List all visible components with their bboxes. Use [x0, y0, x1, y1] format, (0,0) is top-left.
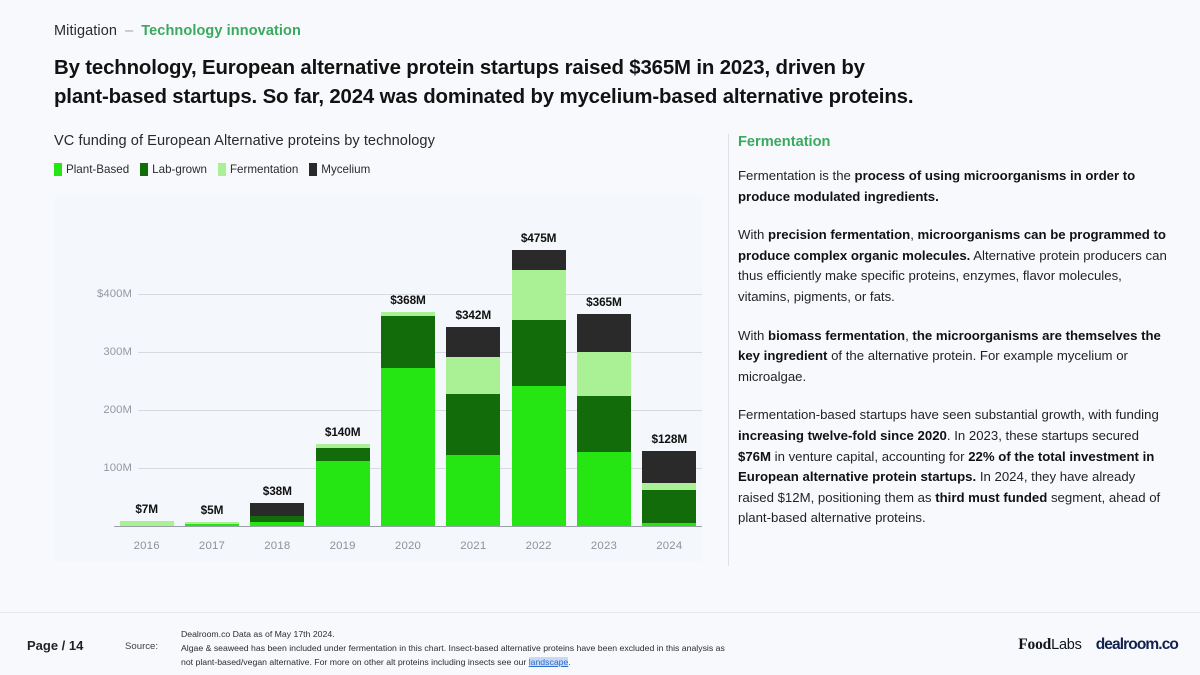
source-note-line3-pre: not plant-based/vegan alternative. For m… — [181, 657, 529, 667]
x-axis-label: 2022 — [506, 540, 571, 552]
source-note-line1: Dealroom.co Data as of May 17th 2024. — [181, 627, 781, 641]
bar-column-2022[interactable]: $475M — [506, 236, 571, 526]
bar-segment-plant-based[interactable] — [446, 455, 500, 526]
bar-total-label: $38M — [263, 484, 292, 498]
page-title-line2: plant-based startups. So far, 2024 was d… — [54, 83, 1114, 112]
bar-total-label: $368M — [390, 293, 426, 307]
chart-title: VC funding of European Alternative prote… — [54, 133, 704, 149]
bar-column-2016[interactable]: $7M — [114, 236, 179, 526]
emphasis-text: $76M — [738, 449, 771, 464]
x-axis-label: 2016 — [114, 540, 179, 552]
chart-header: VC funding of European Alternative prote… — [54, 133, 704, 176]
side-paragraph-1: Fermentation is the process of using mic… — [738, 166, 1170, 207]
bar-segment-lab-grown[interactable] — [512, 320, 566, 386]
legend-swatch-icon — [309, 163, 317, 176]
emphasis-text: increasing twelve-fold since 2020 — [738, 428, 947, 443]
legend-label: Fermentation — [230, 163, 298, 176]
side-panel: Fermentation Fermentation is the process… — [738, 134, 1170, 547]
bar-segment-mycelium[interactable] — [512, 250, 566, 270]
bar-segment-plant-based[interactable] — [642, 523, 696, 526]
legend-swatch-icon — [140, 163, 148, 176]
breadcrumb: Mitigation–Technology innovation — [54, 23, 301, 39]
bar-segment-fermentation[interactable] — [512, 270, 566, 320]
body-text: . In 2023, these startups secured — [947, 428, 1139, 443]
x-axis-line — [114, 526, 702, 528]
legend-swatch-icon — [218, 163, 226, 176]
source-note-line2: Algae & seaweed has been included under … — [181, 641, 781, 655]
bar-segment-fermentation[interactable] — [642, 483, 696, 490]
bar-segment-plant-based[interactable] — [512, 386, 566, 525]
bar-total-label: $7M — [135, 502, 158, 516]
side-panel-body: Fermentation is the process of using mic… — [738, 166, 1170, 529]
x-axis-label: 2021 — [441, 540, 506, 552]
bar-segment-mycelium[interactable] — [642, 451, 696, 482]
legend-swatch-icon — [54, 163, 62, 176]
bar-total-label: $342M — [456, 308, 492, 322]
body-text: in venture capital, accounting for — [771, 449, 968, 464]
bar-segment-plant-based[interactable] — [316, 461, 370, 526]
emphasis-text: third must funded — [935, 490, 1047, 505]
body-text: , — [910, 227, 917, 242]
bar-segment-lab-grown[interactable] — [446, 394, 500, 455]
legend-item-mycelium[interactable]: Mycelium — [309, 163, 370, 176]
x-axis-label: 2019 — [310, 540, 375, 552]
emphasis-text: biomass fermentation — [768, 328, 905, 343]
bar-segment-plant-based[interactable] — [185, 524, 239, 526]
bar-segment-fermentation[interactable] — [577, 352, 631, 396]
chart-legend: Plant-BasedLab-grownFermentationMycelium — [54, 163, 704, 176]
side-paragraph-3: With biomass fermentation, the microorga… — [738, 326, 1170, 388]
footer-logos: FoodLabs dealroom.co — [1018, 636, 1178, 654]
body-text: With — [738, 328, 768, 343]
bar-stack — [250, 503, 304, 525]
legend-item-plant-based[interactable]: Plant-Based — [54, 163, 129, 176]
bar-stack — [316, 444, 370, 525]
foodlabs-logo: FoodLabs — [1018, 636, 1081, 654]
source-note-line3: not plant-based/vegan alternative. For m… — [181, 655, 781, 669]
side-panel-title: Fermentation — [738, 134, 1170, 150]
landscape-link[interactable]: landscape — [529, 657, 569, 667]
bar-segment-lab-grown[interactable] — [381, 316, 435, 369]
bar-segment-lab-grown[interactable] — [577, 396, 631, 452]
page-number: Page / 14 — [27, 638, 83, 653]
foodlabs-logo-labs: Labs — [1051, 637, 1082, 653]
bar-stack — [381, 312, 435, 525]
bar-column-2018[interactable]: $38M — [245, 236, 310, 526]
bar-segment-fermentation[interactable] — [120, 521, 174, 525]
legend-item-fermentation[interactable]: Fermentation — [218, 163, 298, 176]
page-title: By technology, European alternative prot… — [54, 54, 1114, 112]
bar-group: $7M$5M$38M$140M$368M$342M$475M$365M$128M — [114, 236, 702, 526]
bar-segment-plant-based[interactable] — [250, 522, 304, 525]
body-text: Fermentation-based startups have seen su… — [738, 407, 1159, 422]
bar-total-label: $475M — [521, 231, 557, 245]
bar-stack — [120, 521, 174, 525]
bar-column-2020[interactable]: $368M — [375, 236, 440, 526]
body-text: Fermentation is the — [738, 168, 855, 183]
breadcrumb-category: Mitigation — [54, 23, 117, 39]
bar-total-label: $128M — [652, 432, 688, 446]
breadcrumb-separator: – — [117, 23, 141, 39]
legend-label: Lab-grown — [152, 163, 207, 176]
x-axis-label: 2020 — [375, 540, 440, 552]
x-axis-label: 2018 — [245, 540, 310, 552]
bar-total-label: $5M — [201, 503, 224, 517]
bar-segment-lab-grown[interactable] — [316, 448, 370, 460]
bar-stack — [512, 250, 566, 525]
x-axis-label: 2024 — [637, 540, 702, 552]
bar-stack — [446, 327, 500, 525]
dealroom-logo: dealroom.co — [1096, 636, 1178, 654]
bar-stack — [577, 314, 631, 526]
foodlabs-logo-food: Food — [1018, 636, 1051, 653]
x-axis-label: 2017 — [179, 540, 244, 552]
bar-column-2019[interactable]: $140M — [310, 236, 375, 526]
bar-total-label: $140M — [325, 425, 361, 439]
source-label: Source: — [125, 641, 158, 652]
side-paragraph-2: With precision fermentation, microorgani… — [738, 225, 1170, 307]
body-text: With — [738, 227, 768, 242]
page-title-line1: By technology, European alternative prot… — [54, 57, 865, 79]
x-axis-label: 2023 — [571, 540, 636, 552]
side-paragraph-4: Fermentation-based startups have seen su… — [738, 405, 1170, 529]
emphasis-text: precision fermentation — [768, 227, 910, 242]
bar-segment-plant-based[interactable] — [577, 452, 631, 525]
legend-item-lab-grown[interactable]: Lab-grown — [140, 163, 207, 176]
bar-segment-mycelium[interactable] — [250, 503, 304, 515]
legend-label: Plant-Based — [66, 163, 129, 176]
bar-stack — [642, 451, 696, 525]
bar-segment-lab-grown[interactable] — [642, 490, 696, 523]
bar-segment-mycelium[interactable] — [446, 327, 500, 357]
bar-column-2017[interactable]: $5M — [179, 236, 244, 526]
x-axis-labels: 201620172018201920202021202220232024 — [114, 540, 702, 552]
breadcrumb-topic: Technology innovation — [141, 23, 301, 39]
bar-column-2024[interactable]: $128M — [637, 236, 702, 526]
bar-column-2023[interactable]: $365M — [571, 236, 636, 526]
slide-root: Mitigation–Technology innovation By tech… — [0, 0, 1200, 675]
source-note-line3-post: . — [568, 657, 570, 667]
bar-stack — [185, 522, 239, 526]
legend-label: Mycelium — [321, 163, 370, 176]
source-note: Dealroom.co Data as of May 17th 2024. Al… — [181, 627, 781, 669]
bar-total-label: $365M — [586, 295, 622, 309]
bar-segment-fermentation[interactable] — [446, 357, 500, 394]
vertical-divider — [728, 134, 729, 566]
footer-divider — [0, 612, 1200, 613]
chart-plot-area: $400M300M200M100M $7M$5M$38M$140M$368M$3… — [54, 197, 702, 562]
bar-column-2021[interactable]: $342M — [441, 236, 506, 526]
bar-segment-mycelium[interactable] — [577, 314, 631, 352]
bar-segment-plant-based[interactable] — [381, 368, 435, 525]
